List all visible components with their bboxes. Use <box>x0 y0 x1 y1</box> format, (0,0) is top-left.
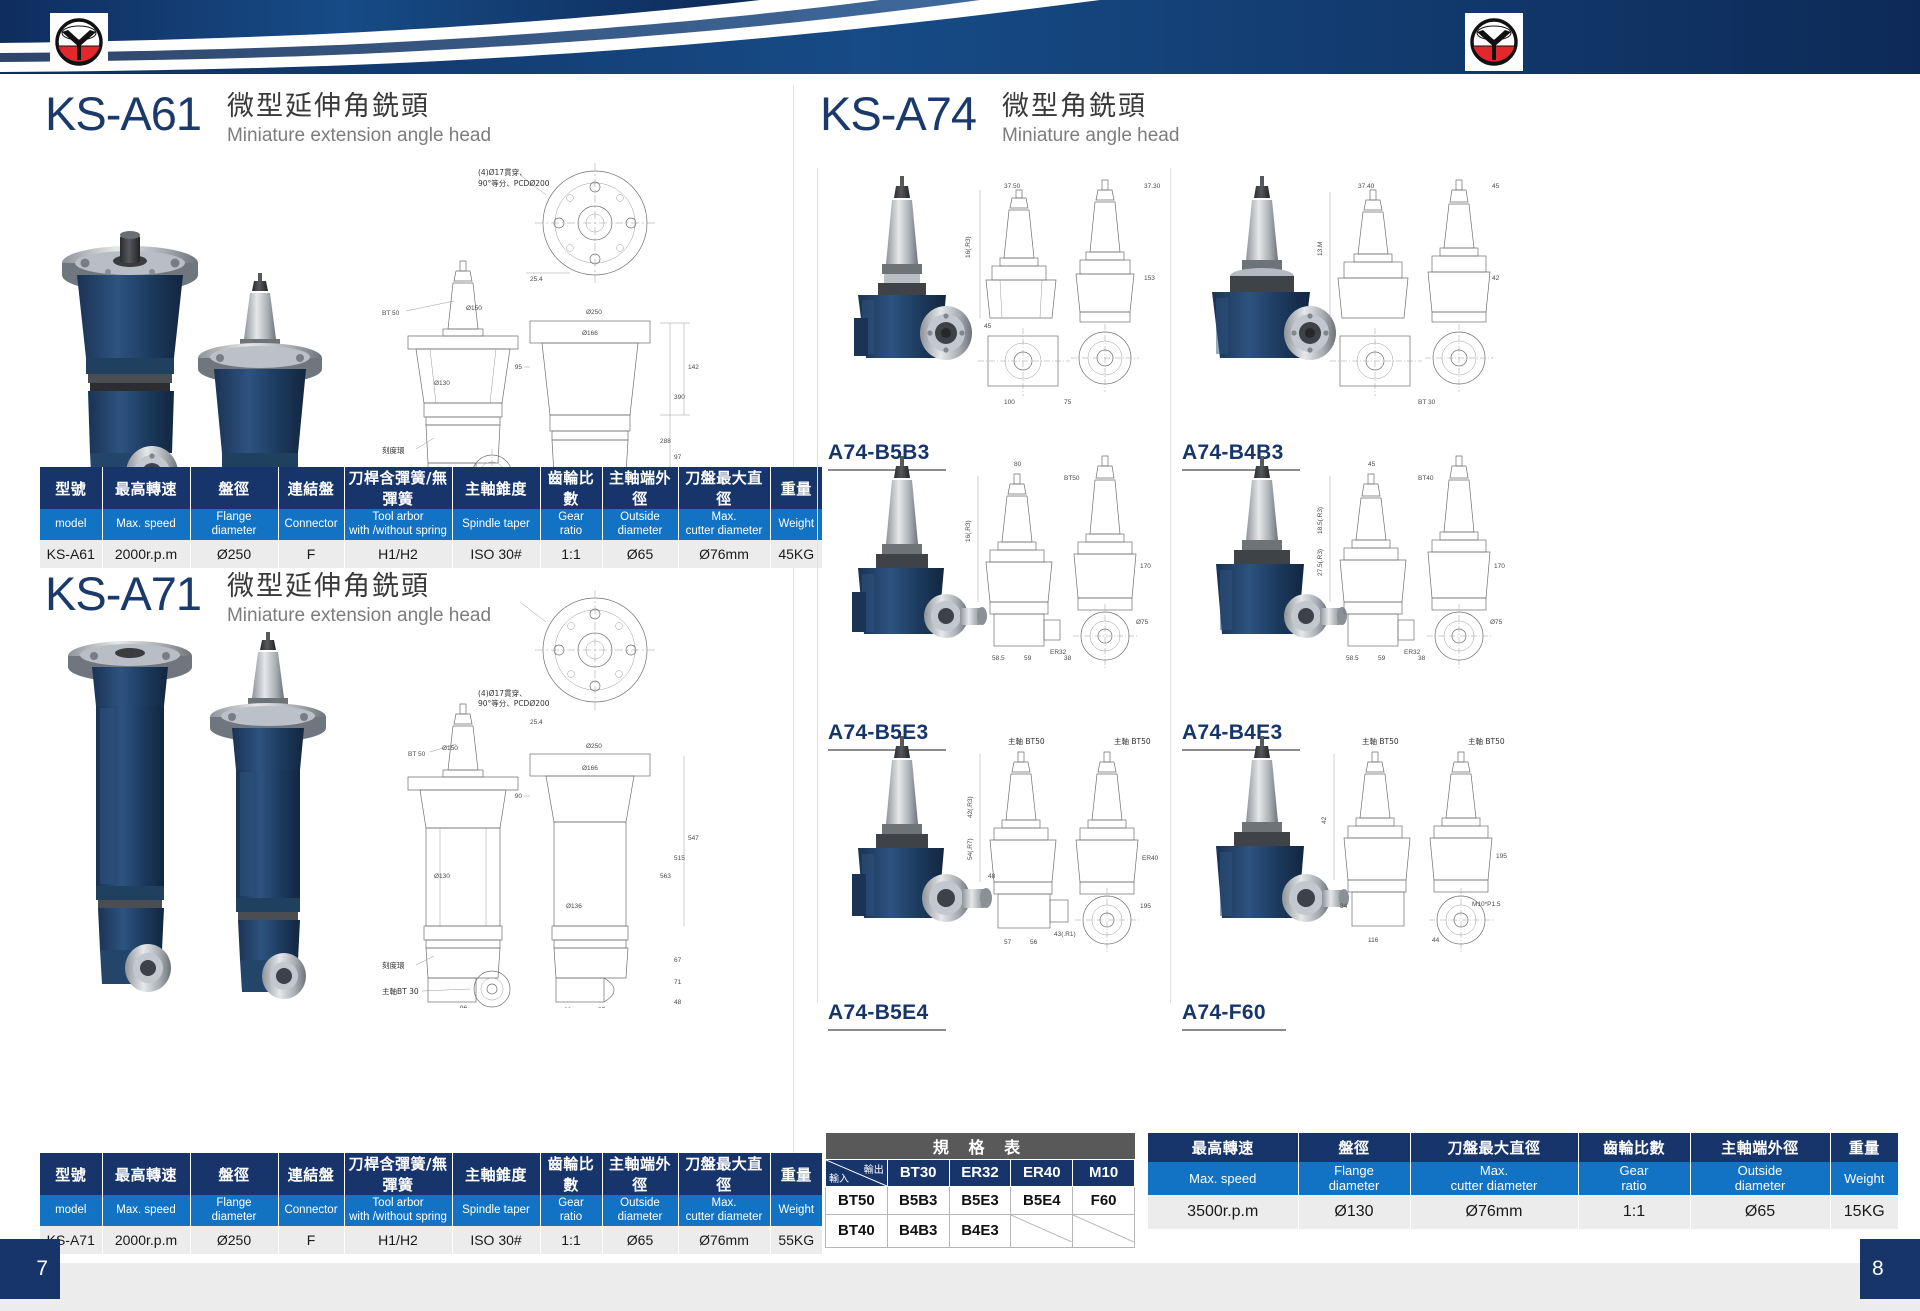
drawing-taper-label: BT 50 <box>382 310 400 317</box>
cell-tool-arbor: H1/H2 <box>344 540 452 568</box>
th-cn-max-cutter-diameter: 刀盤最大直徑 <box>1410 1133 1578 1162</box>
drawing-dim-515: 515 <box>674 855 685 862</box>
elevation-drawing: Ø250 Ø166 Ø136 90 547 515 563 67 71 48 <box>515 743 699 1008</box>
th-en-model: model <box>40 1195 102 1226</box>
th-en-max-speed: Max. speed <box>102 509 190 540</box>
matrix-col-3: M10 <box>1073 1159 1135 1186</box>
dwg-dim: 57 <box>1004 939 1012 946</box>
spec-table-ks-a74: 最高轉速 盤徑 刀盤最大直徑 齒輪比數 主軸端外徑 重量 Max. speed … <box>1148 1133 1898 1229</box>
dwg-dim: 153 <box>1144 275 1155 282</box>
drawing-note-scale-ring: 刻度環 <box>382 445 405 455</box>
table-header-row-en: Max. speed Flange diameter Max. cutter d… <box>1148 1162 1898 1195</box>
dwg-dim: Ø75 <box>1136 619 1149 626</box>
dwg-dim: 45 <box>1368 461 1376 468</box>
table-header-row-cn: 型號 最高轉速 盤徑 連結盤 刀桿含彈簧/無彈簧 主軸錐度 齒輪比數 主軸端外徑… <box>40 467 822 509</box>
cell-flange-diameter: Ø130 <box>1298 1195 1410 1229</box>
th-en-outside-diameter: Outside diameter <box>602 509 678 540</box>
variant-block-4: 主軸 BT50 42(.R3) 54(.R7) 48 57 56 <box>818 728 1168 1031</box>
th-cn-max-speed: 最高轉速 <box>1148 1133 1298 1162</box>
cell-flange-diameter: Ø250 <box>190 540 278 568</box>
drawing-dim-142: 142 <box>688 364 699 371</box>
variant-artwork-1: 37.40 13.M <box>1172 168 1522 436</box>
drawing-dim-d150: Ø150 <box>466 305 482 312</box>
variant-photo <box>1216 456 1347 638</box>
product-title-ks-a61: KS-A61 微型延伸角銑頭 Miniature extension angle… <box>45 90 491 149</box>
th-en-weight: Weight <box>1830 1162 1898 1195</box>
table-row: 3500r.p.m Ø130 Ø76mm 1:1 Ø65 15KG <box>1148 1195 1898 1229</box>
dwg-dim: 195 <box>1496 853 1507 860</box>
variant-drawings: 主軸 BT50 42 34 116 主軸 BT50 <box>1321 736 1507 952</box>
th-cn-gear-ratio: 齒輪比數 <box>1578 1133 1690 1162</box>
dwg-dim: 48 <box>988 873 996 880</box>
th-cn-flange-diameter: 盤徑 <box>190 467 278 509</box>
matrix-axis-output: 輸出 <box>864 1161 884 1176</box>
drawing-dim-d250: Ø250 <box>586 743 602 750</box>
drawing-note-spindle: 主軸BT 30 <box>382 986 419 996</box>
drawing-taper-label: BT 50 <box>408 751 426 758</box>
variant-block-3: 45 BT40 18.5(.R3) 27.5(.R3) 58.5 59 <box>1172 448 1522 751</box>
th-en-gear-ratio: Gear ratio <box>540 1195 602 1226</box>
left-page: KS-A61 微型延伸角銑頭 Miniature extension angle… <box>0 78 790 1228</box>
variant-drawings: 80 BT50 16(.R3) 58.5 59 ER32 <box>965 456 1151 668</box>
dwg-dim: 56 <box>1030 939 1038 946</box>
table-header-row-en: model Max. speed Flange diameter Connect… <box>40 509 822 540</box>
matrix-cell-0-2: B5E4 <box>1011 1186 1073 1214</box>
th-cn-tool-arbor: 刀桿含彈簧/無彈簧 <box>344 1153 452 1195</box>
drawing-dim-254: 25.4 <box>530 719 543 726</box>
product-name-cn: 微型角銑頭 <box>1002 92 1179 122</box>
company-logo-left <box>50 13 108 71</box>
variant-block-2: 80 BT50 16(.R3) 58.5 59 ER32 <box>818 448 1168 751</box>
th-en-flange-diameter: Flange diameter <box>1298 1162 1410 1195</box>
product-name-en: Miniature extension angle head <box>227 124 491 149</box>
dwg-dim: 116 <box>1368 937 1379 944</box>
page-number-right: 8 <box>1860 1239 1920 1299</box>
matrix-axis-input: 輸入 <box>829 1170 849 1185</box>
th-en-connector: Connector <box>278 1195 344 1226</box>
drawing-dim-d130: Ø130 <box>434 873 450 880</box>
variant-artwork-2: 80 BT50 16(.R3) 58.5 59 ER32 <box>818 448 1168 716</box>
dwg-dim: 170 <box>1140 563 1151 570</box>
th-cn-spindle-taper: 主軸錐度 <box>452 467 540 509</box>
th-en-connector: Connector <box>278 509 344 540</box>
dwg-dim: 43(.R1) <box>1054 931 1076 938</box>
th-cn-spindle-taper: 主軸錐度 <box>452 1153 540 1195</box>
dwg-dim: 38 <box>1064 655 1072 662</box>
dwg-dim: 37.30 <box>1144 183 1161 190</box>
dwg-dim: 58.5 <box>1346 655 1359 662</box>
th-en-outside-diameter: Outside diameter <box>1690 1162 1830 1195</box>
dwg-taper-note: 主軸 BT50 <box>1008 736 1045 746</box>
cell-max-cutter-diameter: Ø76mm <box>678 540 770 568</box>
drawing-dim-d166: Ø166 <box>582 765 598 772</box>
dwg-dim: 42(.R3) <box>967 796 974 818</box>
cell-gear-ratio: 1:1 <box>540 540 602 568</box>
th-en-spindle-taper: Spindle taper <box>452 509 540 540</box>
dwg-dim: ER40 <box>1142 855 1159 862</box>
variant-photo <box>852 456 987 638</box>
dwg-dim: 37.40 <box>1358 183 1375 190</box>
table-header-row-cn: 最高轉速 盤徑 刀盤最大直徑 齒輪比數 主軸端外徑 重量 <box>1148 1133 1898 1162</box>
matrix-axis-corner: 輸出 輸入 <box>826 1159 888 1186</box>
dwg-taper-note: 主軸 BT50 <box>1362 736 1399 746</box>
dwg-taper-note-2: 主軸 BT50 <box>1114 736 1151 746</box>
drawing-dim-95: 95 <box>515 364 523 371</box>
dwg-dim: 16(.R3) <box>965 236 972 258</box>
variant-block-1: 37.40 13.M <box>1172 168 1522 471</box>
product-name-cn: 微型延伸角銑頭 <box>227 92 491 122</box>
drawing-dim-390: 390 <box>674 394 685 401</box>
product-photo-a71-taper <box>210 632 326 999</box>
drawing-dim-48: 48 <box>674 999 682 1006</box>
product-code: KS-A74 <box>820 90 976 137</box>
dwg-dim: Ø75 <box>1490 619 1503 626</box>
matrix-row-label-0: BT50 <box>826 1186 888 1214</box>
table-header-row-en: model Max. speed Flange diameter Connect… <box>40 1195 822 1226</box>
drawing-note-holes2: 90°等分、PCDØ200 <box>478 698 550 708</box>
th-cn-flange-diameter: 盤徑 <box>1298 1133 1410 1162</box>
drawing-dim-67: 67 <box>674 957 682 964</box>
variant-photo <box>852 736 992 922</box>
matrix-cell-0-1: B5E3 <box>949 1186 1011 1214</box>
cross-section-drawing: BT 50 刻度環 主軸BT 30 <box>382 704 518 1008</box>
th-en-flange-diameter: Flange diameter <box>190 509 278 540</box>
drawing-note-holes: (4)Ø17貫穿、 <box>478 688 527 698</box>
product-name-en: Miniature angle head <box>1002 124 1179 149</box>
ks-a71-artwork: (4)Ø17貫穿、 90°等分、PCDØ200 25.4 BT 50 <box>30 578 770 1008</box>
variant-photo <box>854 176 972 360</box>
page-number-left: 7 <box>0 1239 60 1299</box>
th-cn-model: 型號 <box>40 467 102 509</box>
product-photo-a61-front <box>62 231 198 500</box>
matrix-cell-0-0: B5B3 <box>887 1186 949 1214</box>
th-cn-connector: 連結盤 <box>278 1153 344 1195</box>
variant-label-5: A74-F60 <box>1172 1001 1372 1025</box>
dwg-taper-note-2: 主軸 BT50 <box>1468 736 1505 746</box>
drawing-dim-d166: Ø166 <box>582 330 598 337</box>
banner-graphic <box>0 0 1920 78</box>
th-cn-gear-ratio: 齒輪比數 <box>540 1153 602 1195</box>
cell-spindle-taper: ISO 30# <box>452 540 540 568</box>
th-en-spindle-taper: Spindle taper <box>452 1195 540 1226</box>
matrix-title-row: 規 格 表 <box>826 1133 1135 1159</box>
variant-artwork-4: 主軸 BT50 42(.R3) 54(.R7) 48 57 56 <box>818 728 1168 996</box>
th-cn-max-cutter-diameter: 刀盤最大直徑 <box>678 1153 770 1195</box>
th-en-max-cutter-diameter: Max. cutter diameter <box>1410 1162 1578 1195</box>
th-cn-connector: 連結盤 <box>278 467 344 509</box>
dwg-dim: BT40 <box>1418 475 1434 482</box>
dwg-dim: 170 <box>1494 563 1505 570</box>
variant-artwork-0: 37.50 16(.R3) 45 <box>818 168 1168 436</box>
dwg-dim: BT 30 <box>1418 399 1436 406</box>
dwg-dim: 34 <box>1340 903 1348 910</box>
variant-grid-rule-mid <box>1170 168 1171 1003</box>
product-photo-a71-front <box>68 641 192 992</box>
th-cn-weight: 重量 <box>1830 1133 1898 1162</box>
dwg-dim: 75 <box>1064 399 1072 406</box>
th-cn-outside-diameter: 主軸端外徑 <box>602 1153 678 1195</box>
cell-max-speed: 2000r.p.m <box>102 540 190 568</box>
drawing-dim-97: 97 <box>674 454 682 461</box>
dwg-dim: 195 <box>1140 903 1151 910</box>
th-cn-max-speed: 最高轉速 <box>102 1153 190 1195</box>
variant-block-0: 37.50 16(.R3) 45 <box>818 168 1168 471</box>
th-en-tool-arbor: Tool arbor with /without spring <box>344 509 452 540</box>
dwg-dim: 42 <box>1492 275 1500 282</box>
drawing-dim-563: 563 <box>660 873 671 880</box>
variant-artwork-5: 主軸 BT50 42 34 116 主軸 BT50 <box>1172 728 1522 996</box>
cell-max-cutter-diameter: Ø76mm <box>1410 1195 1578 1229</box>
spread-gutter <box>793 85 794 1225</box>
variant-photo <box>1216 736 1349 922</box>
dwg-dim: 27.5(.R3) <box>1317 549 1324 576</box>
variant-drawings: 主軸 BT50 42(.R3) 54(.R7) 48 57 56 <box>967 736 1159 952</box>
matrix-title: 規 格 表 <box>826 1133 1135 1159</box>
dwg-dim: 13.M <box>1317 242 1324 256</box>
drawing-dim-90: 90 <box>515 793 523 800</box>
th-en-model: model <box>40 509 102 540</box>
matrix-col-0: BT30 <box>887 1159 949 1186</box>
th-en-max-cutter-diameter: Max. cutter diameter <box>678 509 770 540</box>
th-cn-outside-diameter: 主軸端外徑 <box>1690 1133 1830 1162</box>
drawing-dim-57: 57 <box>598 1007 606 1008</box>
drawing-dim-71: 71 <box>674 979 682 986</box>
th-en-gear-ratio: Gear ratio <box>540 509 602 540</box>
dwg-dim: 59 <box>1024 655 1032 662</box>
drawing-note-holes: (4)Ø17貫穿、 <box>478 167 527 177</box>
dwg-dim: 45 <box>984 323 992 330</box>
matrix-cell-0-3: F60 <box>1073 1186 1135 1214</box>
spec-table-ks-a61: 型號 最高轉速 盤徑 連結盤 刀桿含彈簧/無彈簧 主軸錐度 齒輪比數 主軸端外徑… <box>40 467 822 568</box>
th-en-tool-arbor: Tool arbor with /without spring <box>344 1195 452 1226</box>
th-en-gear-ratio: Gear ratio <box>1578 1162 1690 1195</box>
flange-top-view-drawing: (4)Ø17貫穿、 90°等分、PCDØ200 25.4 <box>478 163 655 283</box>
drawing-note-scale-ring: 刻度環 <box>382 960 405 970</box>
cell-model: KS-A61 <box>40 540 102 568</box>
flange-top-view-drawing: (4)Ø17貫穿、 90°等分、PCDØ200 25.4 <box>478 590 655 726</box>
cell-weight: 15KG <box>1830 1195 1898 1229</box>
dwg-dim: 45 <box>1492 183 1500 190</box>
th-cn-tool-arbor: 刀桿含彈簧/無彈簧 <box>344 467 452 509</box>
drawing-note-holes2: 90°等分、PCDØ200 <box>478 178 550 188</box>
th-en-outside-diameter: Outside diameter <box>602 1195 678 1226</box>
catalog-spread: KS-A61 微型延伸角銑頭 Miniature extension angle… <box>0 0 1920 1311</box>
cell-gear-ratio: 1:1 <box>1578 1195 1690 1229</box>
drawing-dim-254: 25.4 <box>530 276 543 283</box>
logo-mark-icon <box>1468 16 1520 68</box>
cell-connector: F <box>278 540 344 568</box>
cell-outside-diameter: Ø65 <box>1690 1195 1830 1229</box>
footer: 7 8 <box>0 1227 1920 1311</box>
variant-underline-5 <box>1182 1029 1286 1031</box>
dwg-dim: 80 <box>1014 461 1022 468</box>
drawing-dim-547: 547 <box>688 835 699 842</box>
dwg-dim: 37.50 <box>1004 183 1021 190</box>
matrix-col-2: ER40 <box>1011 1159 1073 1186</box>
th-en-max-speed: Max. speed <box>1148 1162 1298 1195</box>
drawing-dim-d130: Ø130 <box>434 380 450 387</box>
variant-drawings: 45 BT40 18.5(.R3) 27.5(.R3) 58.5 59 <box>1317 456 1505 668</box>
variant-underline-4 <box>828 1029 946 1031</box>
drawing-dim-96: 96 <box>460 1005 468 1008</box>
variant-photo <box>1212 176 1336 360</box>
th-cn-outside-diameter: 主軸端外徑 <box>602 467 678 509</box>
company-logo-right <box>1465 13 1523 71</box>
dwg-dim: BT50 <box>1064 475 1080 482</box>
th-en-max-speed: Max. speed <box>102 1195 190 1226</box>
dwg-dim: 44 <box>1432 937 1440 944</box>
drawing-dim-d250: Ø250 <box>586 309 602 316</box>
table-row: KS-A61 2000r.p.m Ø250 F H1/H2 ISO 30# 1:… <box>40 540 822 568</box>
dwg-dim: M10*P1.5 <box>1472 901 1501 908</box>
variant-label-4: A74-B5E4 <box>818 1001 1018 1025</box>
logo-mark-icon <box>53 16 105 68</box>
th-cn-flange-diameter: 盤徑 <box>190 1153 278 1195</box>
drawing-dim-d150: Ø150 <box>442 745 458 752</box>
variant-block-5: 主軸 BT50 42 34 116 主軸 BT50 <box>1172 728 1522 1031</box>
footer-strip <box>0 1263 1920 1311</box>
cell-max-speed: 3500r.p.m <box>1148 1195 1298 1229</box>
variant-artwork-3: 45 BT40 18.5(.R3) 27.5(.R3) 58.5 59 <box>1172 448 1522 716</box>
dwg-dim: 38 <box>1418 655 1426 662</box>
product-code: KS-A61 <box>45 90 201 137</box>
variant-drawings: 37.50 16(.R3) 45 <box>965 180 1161 406</box>
drawing-dim-288: 288 <box>660 438 671 445</box>
th-cn-max-cutter-diameter: 刀盤最大直徑 <box>678 467 770 509</box>
matrix-row-bt50: BT50 B5B3 B5E3 B5E4 F60 <box>826 1186 1135 1214</box>
dwg-dim: 16(.R3) <box>965 520 972 542</box>
dwg-dim: 42 <box>1321 816 1328 824</box>
drawing-dim-d136: Ø136 <box>566 903 582 910</box>
cell-outside-diameter: Ø65 <box>602 540 678 568</box>
top-banner <box>0 0 1920 78</box>
th-cn-max-speed: 最高轉速 <box>102 467 190 509</box>
matrix-col-1: ER32 <box>949 1159 1011 1186</box>
dwg-dim: 54(.R7) <box>967 838 974 860</box>
matrix-header-row: 輸出 輸入 BT30 ER32 ER40 M10 <box>826 1159 1135 1186</box>
th-cn-gear-ratio: 齒輪比數 <box>540 467 602 509</box>
dwg-dim: 100 <box>1004 399 1015 406</box>
dwg-dim: 59 <box>1378 655 1386 662</box>
dwg-dim: 58.5 <box>992 655 1005 662</box>
th-en-flange-diameter: Flange diameter <box>190 1195 278 1226</box>
th-cn-model: 型號 <box>40 1153 102 1195</box>
product-title-ks-a74: KS-A74 微型角銑頭 Miniature angle head <box>820 90 1179 149</box>
variant-drawings: 37.40 13.M <box>1317 180 1500 406</box>
table-header-row-cn: 型號 最高轉速 盤徑 連結盤 刀桿含彈簧/無彈簧 主軸錐度 齒輪比數 主軸端外徑… <box>40 1153 822 1195</box>
th-en-max-cutter-diameter: Max. cutter diameter <box>678 1195 770 1226</box>
dwg-dim: 18.5(.R3) <box>1317 507 1324 534</box>
drawing-dim-63: 63 <box>564 1007 572 1008</box>
right-page: KS-A74 微型角銑頭 Miniature angle head <box>800 78 1920 1228</box>
